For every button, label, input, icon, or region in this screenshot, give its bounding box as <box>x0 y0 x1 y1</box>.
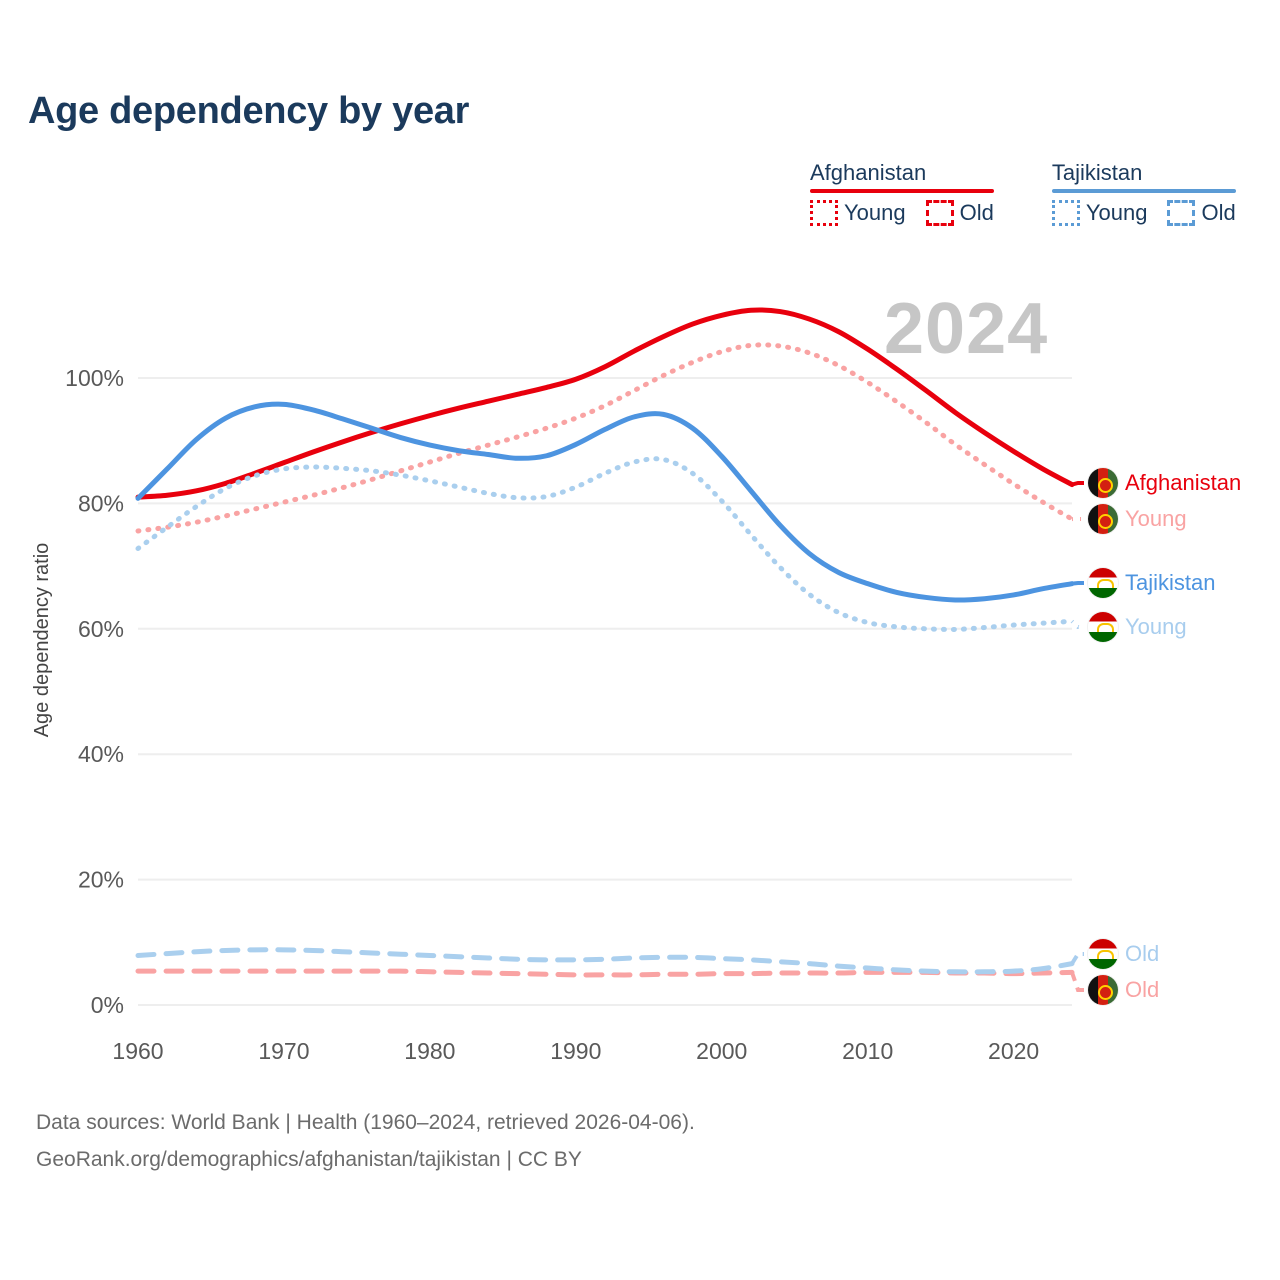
tajikistan-flag-icon <box>1088 568 1118 598</box>
end-label-tajikistan-tj[interactable]: Tajikistan <box>1088 568 1215 598</box>
footer-credits: Data sources: World Bank | Health (1960–… <box>36 1105 695 1179</box>
y-axis-title: Age dependency ratio <box>31 543 53 738</box>
x-tick-label: 1980 <box>404 1038 455 1064</box>
end-label-young-tj[interactable]: Young <box>1088 612 1187 642</box>
x-axis-tick-labels: 1960197019801990200020102020 <box>112 1038 1039 1064</box>
footer-line-sources: Data sources: World Bank | Health (1960–… <box>36 1105 695 1142</box>
leader-line <box>1072 972 1084 990</box>
series-line-tajikistan-young <box>138 459 1072 630</box>
y-tick-label: 100% <box>65 365 124 391</box>
data-series <box>138 310 1072 975</box>
x-tick-label: 2010 <box>842 1038 893 1064</box>
y-tick-label: 40% <box>78 741 124 767</box>
x-tick-label: 1960 <box>112 1038 163 1064</box>
end-label-text: Young <box>1125 506 1187 532</box>
afghanistan-flag-icon <box>1088 975 1118 1005</box>
end-label-text: Tajikistan <box>1125 570 1215 596</box>
end-label-text: Old <box>1125 977 1159 1003</box>
y-tick-label: 20% <box>78 867 124 893</box>
end-label-old-tj[interactable]: Old <box>1088 939 1159 969</box>
tajikistan-flag-icon <box>1088 939 1118 969</box>
leader-line <box>1072 621 1084 627</box>
line-chart-plot: 0%20%40%60%80%100% 196019701980199020002… <box>0 0 1280 1080</box>
y-tick-label: 60% <box>78 616 124 642</box>
footer-line-url: GeoRank.org/demographics/afghanistan/taj… <box>36 1142 695 1179</box>
end-label-young-af[interactable]: Young <box>1088 504 1187 534</box>
end-label-text: Afghanistan <box>1125 470 1241 496</box>
end-label-old-af[interactable]: Old <box>1088 975 1159 1005</box>
x-tick-label: 2000 <box>696 1038 747 1064</box>
y-tick-label: 0% <box>91 992 124 1018</box>
y-axis-tick-labels: 0%20%40%60%80%100% <box>65 365 124 1018</box>
leader-line <box>1072 483 1084 485</box>
leader-lines <box>1072 483 1084 990</box>
x-tick-label: 1990 <box>550 1038 601 1064</box>
afghanistan-flag-icon <box>1088 504 1118 534</box>
end-label-text: Old <box>1125 941 1159 967</box>
series-line-tajikistan-old <box>138 950 1072 972</box>
x-tick-label: 1970 <box>258 1038 309 1064</box>
end-label-afghanistan-af[interactable]: Afghanistan <box>1088 468 1241 498</box>
end-label-text: Young <box>1125 614 1187 640</box>
leader-line <box>1072 583 1084 584</box>
x-tick-label: 2020 <box>988 1038 1039 1064</box>
afghanistan-flag-icon <box>1088 468 1118 498</box>
tajikistan-flag-icon <box>1088 612 1118 642</box>
y-tick-label: 80% <box>78 490 124 516</box>
series-line-tajikistan <box>138 404 1072 600</box>
leader-line <box>1072 954 1084 964</box>
